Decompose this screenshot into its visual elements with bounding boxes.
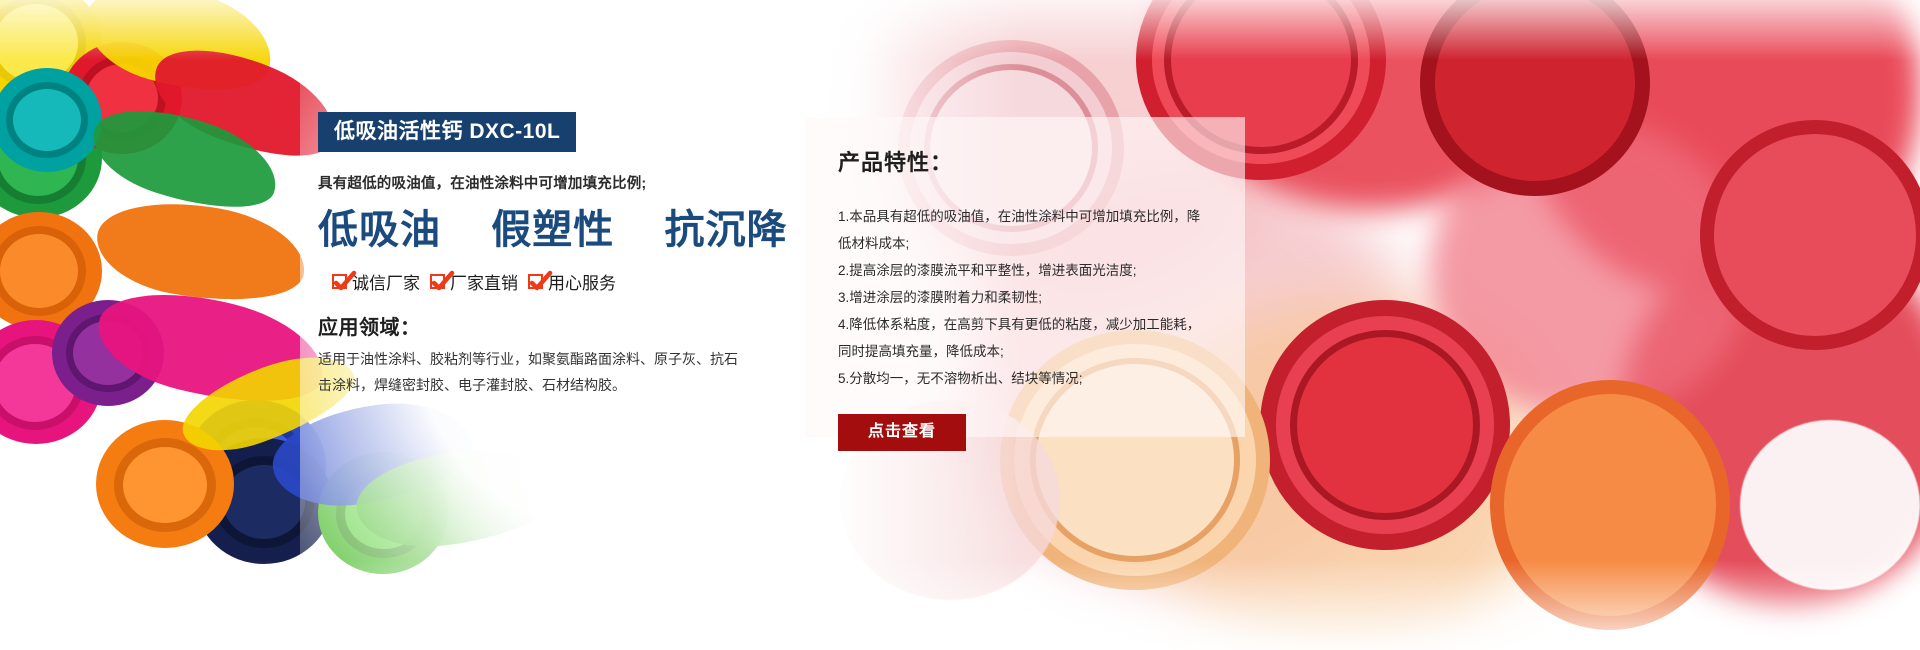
paint-tin-navy xyxy=(196,438,332,564)
paint-stroke-blue xyxy=(266,393,477,516)
checkbox-checked-icon xyxy=(528,274,543,289)
paint-stroke-orange xyxy=(90,188,313,315)
paint-tin-magenta-rim xyxy=(0,336,84,430)
feature-item-4: 4.降低体系粘度，在高剪下具有更低的粘度，减少加工能耗，同时提高填充量，降低成本… xyxy=(838,311,1213,365)
paint-tin-yellow-rim xyxy=(0,0,86,90)
paint-wash-crimson-lower xyxy=(1620,230,1920,610)
paint-tin-blue xyxy=(186,400,326,532)
feature-item-5: 5.分散均一，无不溶物析出、结块等情况; xyxy=(838,365,1213,392)
product-banner: 低吸油活性钙 DXC-10L 具有超低的吸油值，在油性涂料中可增加填充比例; 低… xyxy=(0,0,1920,650)
paint-tin-red xyxy=(62,42,182,154)
trust-badge-2-label: 厂家直销 xyxy=(450,269,518,294)
paint-splatter-white-right xyxy=(1740,420,1920,590)
paint-stroke-lime xyxy=(352,442,561,554)
trust-badge-1: 诚信厂家 xyxy=(332,269,420,294)
paint-can-crimson-lower-right xyxy=(1260,300,1510,550)
product-features-panel: 产品特性： 1.本品具有超低的吸油值，在油性涂料中可增加填充比例，降低材料成本;… xyxy=(805,117,1245,437)
paint-tin-green xyxy=(0,98,102,218)
paint-stroke-yellow xyxy=(74,0,283,110)
trust-badge-3: 用心服务 xyxy=(528,269,616,294)
paint-tin-purple-rim xyxy=(66,314,150,392)
paint-tin-yellow xyxy=(0,0,102,104)
paint-tin-green-rim xyxy=(0,112,86,204)
headline-word-1: 低吸油 xyxy=(318,208,441,252)
paint-tin-orange-bottom-rim xyxy=(114,438,216,532)
feature-item-1: 1.本品具有超低的吸油值，在油性涂料中可增加填充比例，降低材料成本; xyxy=(838,203,1213,257)
view-details-button[interactable]: 点击查看 xyxy=(838,414,966,451)
paint-tin-orange-rim xyxy=(0,226,86,316)
application-section-body: 适用于油性涂料、胶粘剂等行业，如聚氨酯路面涂料、原子灰、抗石击涂料，焊缝密封胶、… xyxy=(318,347,738,399)
headline-word-2: 假塑性 xyxy=(491,208,614,252)
trust-badge-row: 诚信厂家 厂家直销 用心服务 xyxy=(332,269,758,294)
paint-can-crimson-lower-right-inner xyxy=(1290,330,1480,520)
paint-tin-purple xyxy=(52,300,164,406)
application-section-title: 应用领域： xyxy=(318,311,758,340)
trust-badge-2: 厂家直销 xyxy=(430,269,518,294)
feature-item-3: 3.增进涂层的漆膜附着力和柔韧性; xyxy=(838,284,1213,311)
checkbox-checked-icon xyxy=(430,274,445,289)
paint-tin-lime xyxy=(318,452,448,574)
paint-tin-orange xyxy=(0,212,102,330)
paint-can-rose-far-right xyxy=(1700,120,1920,350)
paint-tin-lime-rim xyxy=(336,470,432,558)
product-subtitle: 具有超低的吸油值，在油性涂料中可增加填充比例; xyxy=(318,176,758,193)
left-text-block: 低吸油活性钙 DXC-10L 具有超低的吸油值，在油性涂料中可增加填充比例; 低… xyxy=(318,112,758,399)
white-fade-bottom xyxy=(0,560,1920,650)
white-fade-top xyxy=(0,0,1920,60)
headline-word-3: 抗沉降 xyxy=(665,208,788,252)
features-list: 1.本品具有超低的吸油值，在油性涂料中可增加填充比例，降低材料成本; 2.提高涂… xyxy=(838,203,1213,392)
paint-wash-crimson-right xyxy=(1520,0,1920,300)
paint-tin-red-rim xyxy=(78,56,166,140)
paint-tin-blue-rim xyxy=(204,418,308,516)
paint-can-orange-bottom xyxy=(1490,380,1730,630)
features-panel-title: 产品特性： xyxy=(838,145,1230,177)
paint-tin-teal xyxy=(0,68,102,172)
product-features-panel-inner: 产品特性： 1.本品具有超低的吸油值，在油性涂料中可增加填充比例，降低材料成本;… xyxy=(838,145,1230,451)
trust-badge-3-label: 用心服务 xyxy=(548,269,616,294)
headline-keywords: 低吸油 假塑性 抗沉降 xyxy=(318,207,758,253)
paint-tin-magenta xyxy=(0,320,102,444)
paint-wash-rose xyxy=(1430,120,1750,420)
paint-can-darkred-right xyxy=(1420,0,1650,196)
trust-badge-1-label: 诚信厂家 xyxy=(352,269,420,294)
checkbox-checked-icon xyxy=(332,274,347,289)
paint-tin-navy-rim xyxy=(214,456,314,548)
product-title-chip: 低吸油活性钙 DXC-10L xyxy=(318,112,576,152)
feature-item-2: 2.提高涂层的漆膜流平和平整性，增进表面光洁度; xyxy=(838,257,1213,284)
paint-tin-teal-rim xyxy=(6,82,88,158)
paint-stroke-magenta xyxy=(88,274,334,423)
paint-tin-orange-bottom xyxy=(96,420,234,548)
paint-stroke-green xyxy=(82,91,288,228)
